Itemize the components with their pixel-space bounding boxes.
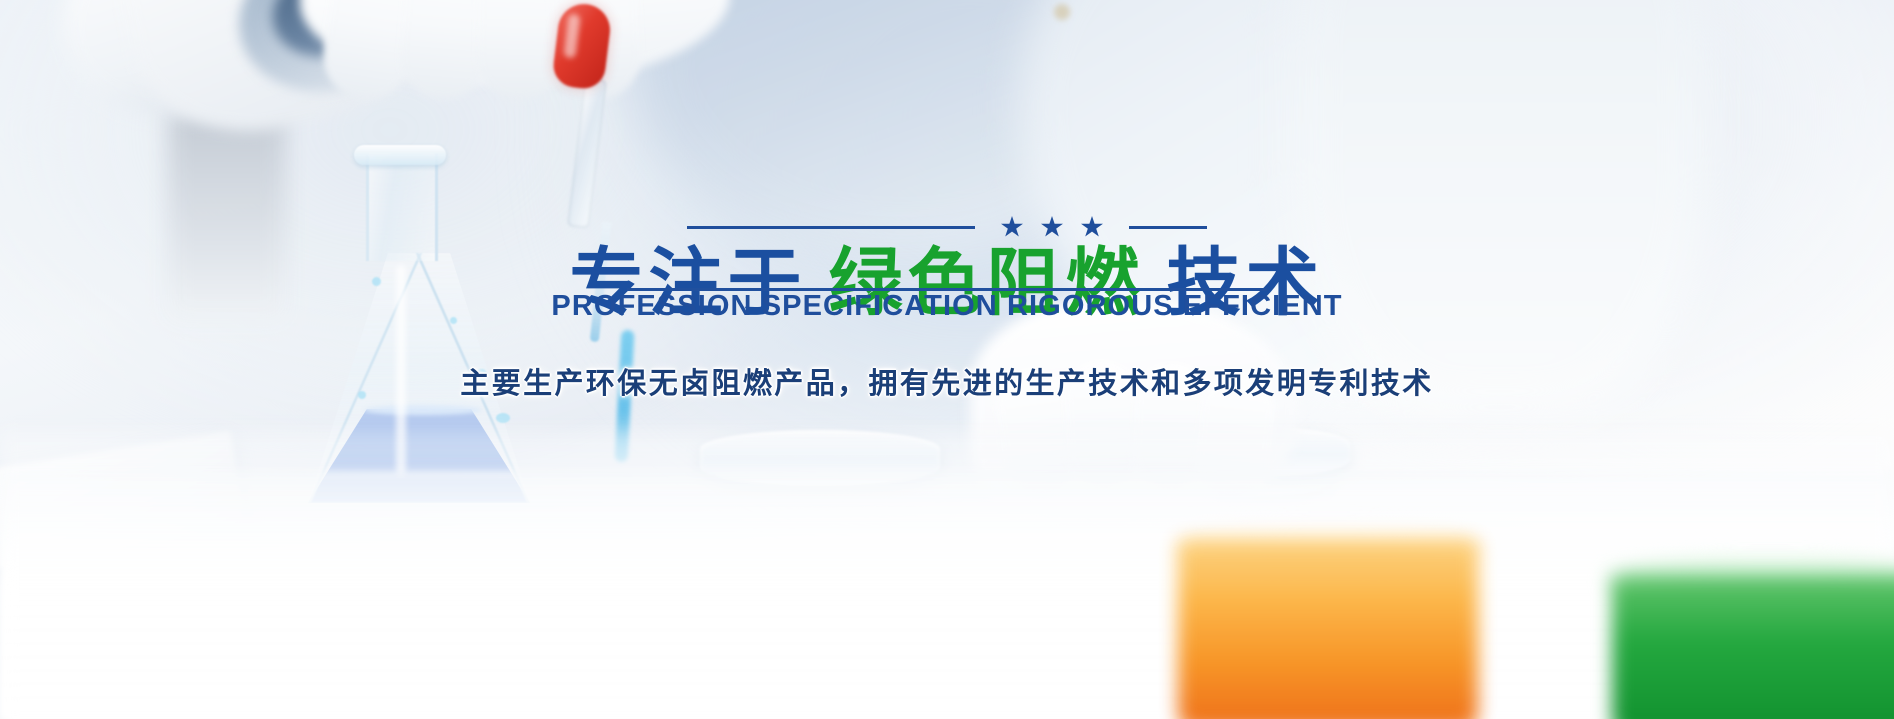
banner-subtitle-chinese: 主要生产环保无卤阻燃产品，拥有先进的生产技术和多项发明专利技术 bbox=[0, 360, 1894, 402]
banner-subtitle-english: PROFESSION SPECIFICATION RIGOROUS EFFICI… bbox=[0, 290, 1894, 323]
divider-line-left bbox=[687, 226, 975, 229]
star-icon bbox=[1001, 216, 1023, 238]
star-group bbox=[1001, 216, 1103, 238]
divider-line-right bbox=[1129, 226, 1207, 229]
banner-content: 专注于绿色阻燃技术 PROFESSION SPECIFICATION RIGOR… bbox=[0, 0, 1894, 719]
hero-banner: 专注于绿色阻燃技术 PROFESSION SPECIFICATION RIGOR… bbox=[0, 0, 1894, 719]
star-icon bbox=[1041, 216, 1063, 238]
decorative-divider bbox=[0, 216, 1894, 238]
star-icon bbox=[1081, 216, 1103, 238]
